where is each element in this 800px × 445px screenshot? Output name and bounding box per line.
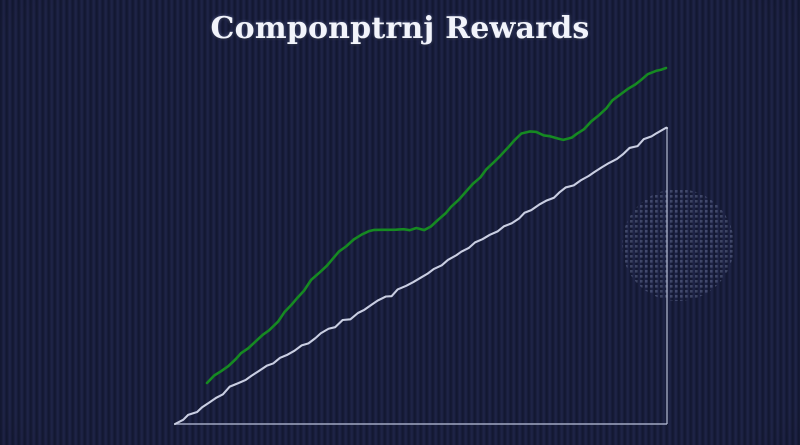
plot-area <box>0 0 800 445</box>
chart-canvas: Componptrnj Rewards <box>0 0 800 445</box>
series-green-line <box>207 68 666 383</box>
series-white-line <box>175 128 667 424</box>
page-title: Componptrnj Rewards <box>0 11 800 46</box>
